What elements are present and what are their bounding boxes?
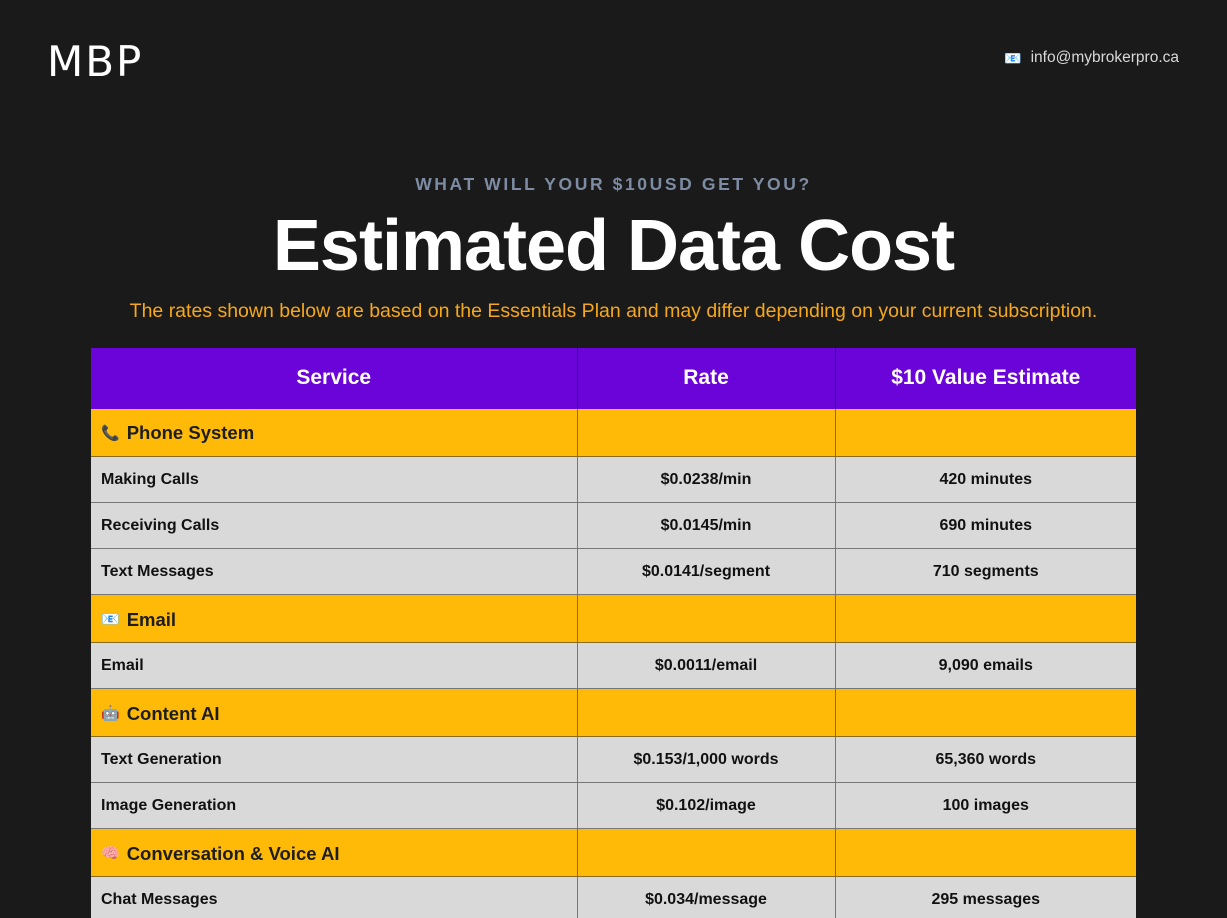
hero-section: WHAT WILL YOUR $10USD GET YOU? Estimated… [0, 120, 1227, 323]
rate-cell [577, 409, 835, 457]
category-label: 📞Phone System [101, 422, 254, 444]
rate-cell: $0.0141/segment [577, 549, 835, 595]
category-name-cell: 🤖Content AI [91, 689, 577, 737]
value-estimate-cell: 295 messages [835, 877, 1136, 918]
service-name-cell: Making Calls [91, 457, 577, 503]
category-label: 🤖Content AI [101, 703, 220, 725]
table-row: Text Messages$0.0141/segment710 segments [91, 549, 1136, 595]
service-name-cell: Chat Messages [91, 877, 577, 918]
rate-cell [577, 595, 835, 643]
table-row: Receiving Calls$0.0145/min690 minutes [91, 503, 1136, 549]
service-name-cell: Text Generation [91, 737, 577, 783]
column-header-value: $10 Value Estimate [835, 348, 1136, 409]
value-estimate-cell [835, 689, 1136, 737]
contact-email-link[interactable]: 📧 info@mybrokerpro.ca [1004, 49, 1179, 67]
table-category-row: 🤖Content AI [91, 689, 1136, 737]
table-category-row: 📧Email [91, 595, 1136, 643]
category-name-cell: 📧Email [91, 595, 577, 643]
cost-table-container: Service Rate $10 Value Estimate 📞Phone S… [91, 348, 1136, 918]
category-label-text: Content AI [127, 703, 220, 725]
service-name-cell: Receiving Calls [91, 503, 577, 549]
rate-cell: $0.0145/min [577, 503, 835, 549]
estimated-data-cost-table: Service Rate $10 Value Estimate 📞Phone S… [91, 348, 1136, 918]
value-estimate-cell [835, 829, 1136, 877]
category-label-text: Conversation & Voice AI [127, 843, 340, 865]
table-row: Email$0.0011/email9,090 emails [91, 643, 1136, 689]
rate-cell: $0.0011/email [577, 643, 835, 689]
mbp-logo[interactable]: MBP [47, 41, 143, 83]
service-name-cell: Email [91, 643, 577, 689]
service-name-cell: Image Generation [91, 783, 577, 829]
value-estimate-cell [835, 409, 1136, 457]
value-estimate-cell: 65,360 words [835, 737, 1136, 783]
category-label: 📧Email [101, 609, 176, 631]
service-name-cell: Text Messages [91, 549, 577, 595]
envelope-icon: 📧 [1004, 51, 1021, 65]
table-row: Text Generation$0.153/1,000 words65,360 … [91, 737, 1136, 783]
value-estimate-cell: 100 images [835, 783, 1136, 829]
contact-email-text: info@mybrokerpro.ca [1031, 49, 1179, 67]
table-row: Image Generation$0.102/image100 images [91, 783, 1136, 829]
value-estimate-cell [835, 595, 1136, 643]
table-category-row: 📞Phone System [91, 409, 1136, 457]
value-estimate-cell: 710 segments [835, 549, 1136, 595]
brain-icon: 🧠 [101, 846, 120, 861]
table-row: Chat Messages$0.034/message295 messages [91, 877, 1136, 918]
rate-cell: $0.0238/min [577, 457, 835, 503]
rate-cell: $0.034/message [577, 877, 835, 918]
email-icon: 📧 [101, 612, 120, 627]
category-name-cell: 🧠Conversation & Voice AI [91, 829, 577, 877]
category-name-cell: 📞Phone System [91, 409, 577, 457]
rate-cell: $0.153/1,000 words [577, 737, 835, 783]
value-estimate-cell: 420 minutes [835, 457, 1136, 503]
robot-icon: 🤖 [101, 706, 120, 721]
column-header-service: Service [91, 348, 577, 409]
column-header-rate: Rate [577, 348, 835, 409]
rate-cell: $0.102/image [577, 783, 835, 829]
rate-cell [577, 689, 835, 737]
table-body: 📞Phone SystemMaking Calls$0.0238/min420 … [91, 409, 1136, 918]
table-row: Making Calls$0.0238/min420 minutes [91, 457, 1136, 503]
hero-eyebrow: WHAT WILL YOUR $10USD GET YOU? [0, 176, 1227, 194]
hero-subtitle: The rates shown below are based on the E… [0, 299, 1227, 323]
category-label-text: Phone System [127, 422, 255, 444]
category-label: 🧠Conversation & Voice AI [101, 843, 339, 865]
table-header: Service Rate $10 Value Estimate [91, 348, 1136, 409]
table-header-row: Service Rate $10 Value Estimate [91, 348, 1136, 409]
rate-cell [577, 829, 835, 877]
category-label-text: Email [127, 609, 176, 631]
phone-icon: 📞 [101, 426, 120, 441]
table-category-row: 🧠Conversation & Voice AI [91, 829, 1136, 877]
page-title: Estimated Data Cost [0, 210, 1227, 282]
value-estimate-cell: 690 minutes [835, 503, 1136, 549]
top-bar: MBP 📧 info@mybrokerpro.ca [0, 0, 1227, 120]
value-estimate-cell: 9,090 emails [835, 643, 1136, 689]
